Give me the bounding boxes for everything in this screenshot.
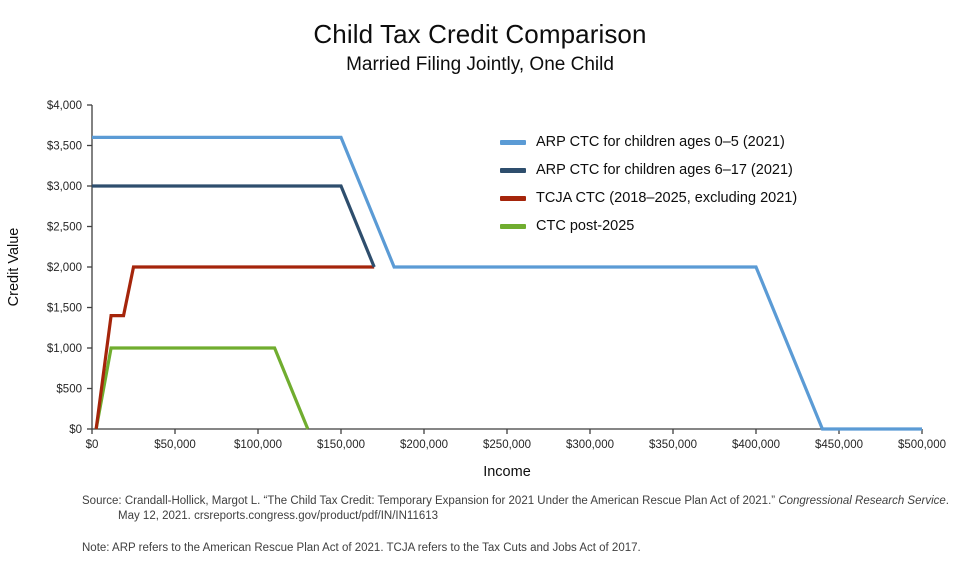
x-axis-tick-label: $400,000 <box>732 439 780 451</box>
chart-svg: $0$500$1,000$1,500$2,000$2,500$3,000$3,5… <box>0 0 960 562</box>
legend-item-label: ARP CTC for children ages 6–17 (2021) <box>536 162 793 179</box>
y-axis-title: Credit Value <box>6 228 22 307</box>
y-axis-tick-label: $3,000 <box>47 181 82 193</box>
legend-item-arp_0_5[interactable]: ARP CTC for children ages 0–5 (2021) <box>500 128 830 156</box>
source-note-suffix: . <box>946 495 949 507</box>
legend-swatch-icon <box>500 168 526 173</box>
y-axis-tick-label: $3,500 <box>47 141 82 153</box>
y-axis-tick-label: $0 <box>69 424 82 436</box>
legend-swatch-icon <box>500 140 526 145</box>
source-note: Source: Crandall-Hollick, Margot L. “The… <box>82 494 952 524</box>
plot-area: $0$500$1,000$1,500$2,000$2,500$3,000$3,5… <box>0 0 960 562</box>
source-publication: Congressional Research Service <box>778 495 945 507</box>
legend-item-label: CTC post-2025 <box>536 218 634 235</box>
series-line-3 <box>96 348 308 429</box>
source-note-line2: May 12, 2021. crsreports.congress.gov/pr… <box>82 509 952 524</box>
y-axis-tick-label: $500 <box>56 384 82 396</box>
legend-item-label: TCJA CTC (2018–2025, excluding 2021) <box>536 190 797 207</box>
x-axis-title: Income <box>483 464 531 480</box>
x-axis-tick-label: $0 <box>86 439 99 451</box>
legend-item-arp_6_17[interactable]: ARP CTC for children ages 6–17 (2021) <box>500 156 830 184</box>
chart-figure: Child Tax Credit Comparison Married Fili… <box>0 0 960 562</box>
x-axis-tick-label: $50,000 <box>154 439 196 451</box>
y-axis-tick-label: $2,500 <box>47 222 82 234</box>
source-note-text: Source: Crandall-Hollick, Margot L. “The… <box>82 495 778 507</box>
legend-item-tcja[interactable]: TCJA CTC (2018–2025, excluding 2021) <box>500 184 830 212</box>
chart-legend: ARP CTC for children ages 0–5 (2021)ARP … <box>500 128 830 240</box>
y-axis-tick-label: $1,000 <box>47 343 82 355</box>
y-axis-tick-label: $2,000 <box>47 262 82 274</box>
y-axis-tick-label: $1,500 <box>47 303 82 315</box>
legend-swatch-icon <box>500 224 526 229</box>
x-axis-tick-label: $350,000 <box>649 439 697 451</box>
general-note: Note: ARP refers to the American Rescue … <box>82 541 952 556</box>
legend-swatch-icon <box>500 196 526 201</box>
legend-item-post_2025[interactable]: CTC post-2025 <box>500 212 830 240</box>
series-line-1 <box>92 186 374 267</box>
x-axis-tick-label: $150,000 <box>317 439 365 451</box>
footnotes: Source: Crandall-Hollick, Margot L. “The… <box>82 494 952 556</box>
legend-item-label: ARP CTC for children ages 0–5 (2021) <box>536 134 785 151</box>
x-axis-tick-label: $500,000 <box>898 439 946 451</box>
x-axis-tick-label: $100,000 <box>234 439 282 451</box>
y-axis-tick-label: $4,000 <box>47 100 82 112</box>
x-axis-tick-label: $300,000 <box>566 439 614 451</box>
x-axis-tick-label: $450,000 <box>815 439 863 451</box>
x-axis-tick-label: $200,000 <box>400 439 448 451</box>
x-axis-tick-label: $250,000 <box>483 439 531 451</box>
